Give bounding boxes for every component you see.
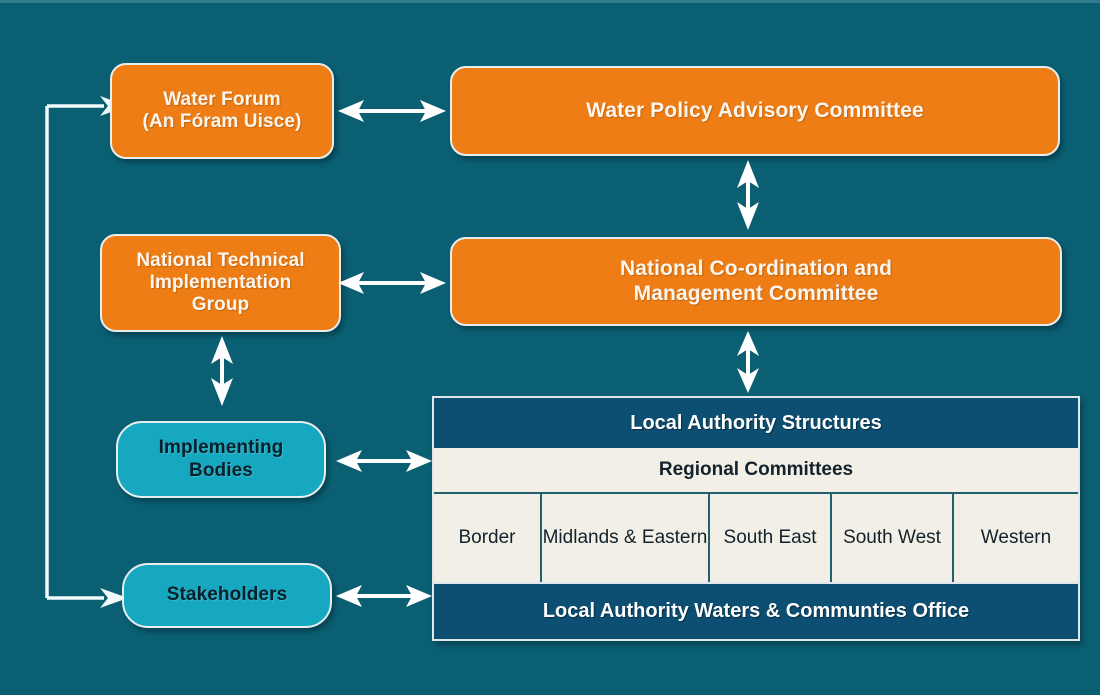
node-national-technical-implementation-group[interactable]: National Technical Implementation Group [100, 234, 341, 332]
arrow-water-forum-to-wpac [338, 96, 446, 126]
region-midlands-line1: Midlands & [543, 527, 637, 548]
arrow-ncmc-to-local-authority [733, 331, 763, 393]
region-cell-south-east[interactable]: South East [710, 494, 832, 582]
implementing-bodies-line1: Implementing [159, 437, 284, 459]
node-water-forum[interactable]: Water Forum (An Fóram Uisce) [110, 63, 334, 159]
arrow-implementing-bodies-to-local-authority [336, 446, 432, 476]
region-south-east-line1: South [724, 527, 774, 548]
arrow-stakeholders-to-local-authority [336, 581, 432, 611]
node-water-policy-advisory-committee[interactable]: Water Policy Advisory Committee [450, 66, 1060, 156]
water-forum-line1: Water Forum [143, 89, 302, 111]
node-national-coordination-and-management-committee[interactable]: National Co-ordination and Management Co… [450, 237, 1062, 326]
local-authority-structures-table: Local Authority Structures Regional Comm… [432, 396, 1080, 641]
region-cell-western[interactable]: Western [954, 494, 1078, 582]
local-authority-structures-header: Local Authority Structures [434, 398, 1078, 448]
region-midlands-line2: Eastern [642, 527, 707, 548]
region-cell-border[interactable]: Border [434, 494, 542, 582]
region-south-west-line1: South [843, 527, 893, 548]
arrow-ntig-to-ncmc [338, 268, 446, 298]
ncmc-line2: Management Committee [620, 282, 892, 306]
region-border-line1: Border [458, 527, 515, 548]
arrow-ntig-to-implementing-bodies [207, 336, 237, 406]
top-edge-hairline [0, 0, 1100, 3]
regional-committees-title: Regional Committees [434, 448, 1078, 492]
local-authority-waters-communities-office: Local Authority Waters & Communties Offi… [434, 582, 1078, 639]
regional-committees-label: Regional Committees [659, 459, 853, 481]
ncmc-line1: National Co-ordination and [620, 257, 892, 281]
region-western-line1: Western [981, 527, 1051, 548]
stakeholders-label: Stakeholders [167, 584, 288, 606]
ntig-line2: Implementation [136, 272, 304, 294]
lawco-label: Local Authority Waters & Communties Offi… [543, 600, 969, 623]
arrow-wpac-to-ncmc [733, 160, 763, 230]
implementing-bodies-line2: Bodies [159, 460, 284, 482]
region-south-west-line2: West [898, 527, 941, 548]
region-cell-midlands-eastern[interactable]: Midlands & Eastern [542, 494, 710, 582]
left-spine-connector [42, 92, 137, 612]
regional-committees-row: Border Midlands & Eastern South East Sou… [434, 492, 1078, 582]
ntig-line3: Group [136, 294, 304, 316]
wpac-label: Water Policy Advisory Committee [586, 99, 924, 123]
node-implementing-bodies[interactable]: Implementing Bodies [116, 421, 326, 498]
region-cell-south-west[interactable]: South West [832, 494, 954, 582]
diagram-canvas: Water Forum (An Fóram Uisce) Water Polic… [0, 0, 1100, 695]
water-forum-line2: (An Fóram Uisce) [143, 111, 302, 133]
node-stakeholders[interactable]: Stakeholders [122, 563, 332, 628]
region-south-east-line2: East [778, 527, 816, 548]
ntig-line1: National Technical [136, 250, 304, 272]
local-authority-structures-title: Local Authority Structures [630, 412, 882, 435]
